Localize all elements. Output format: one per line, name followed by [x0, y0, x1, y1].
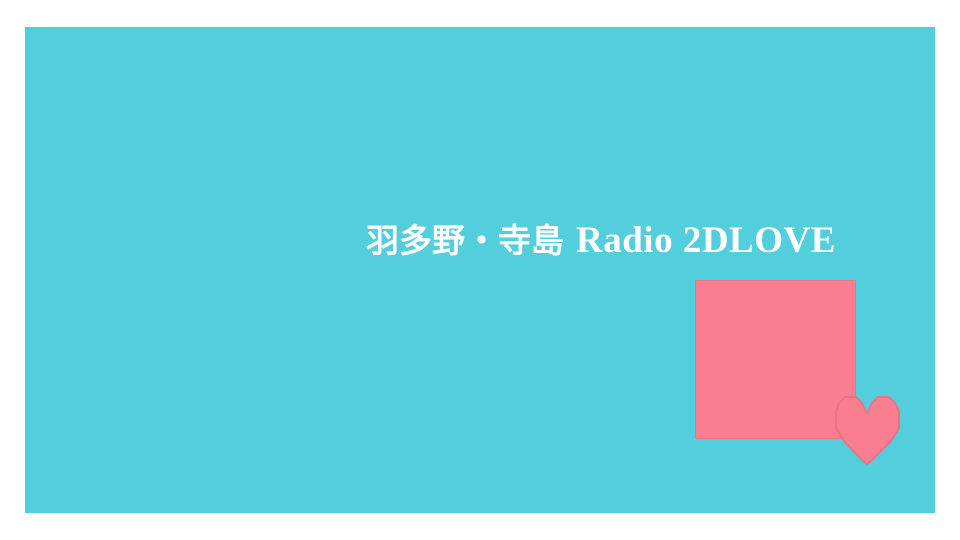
heart-icon-shape	[826, 394, 912, 466]
title-japanese-text: 羽多野・寺島	[366, 221, 564, 260]
teal-background-panel	[25, 27, 935, 513]
title-latin-text: Radio 2DLOVE	[564, 220, 836, 261]
page-title: 羽多野・寺島Radio 2DLOVE	[366, 222, 836, 259]
screenshot-stage: 羽多野・寺島Radio 2DLOVE	[0, 0, 960, 540]
heart-icon	[826, 394, 912, 466]
